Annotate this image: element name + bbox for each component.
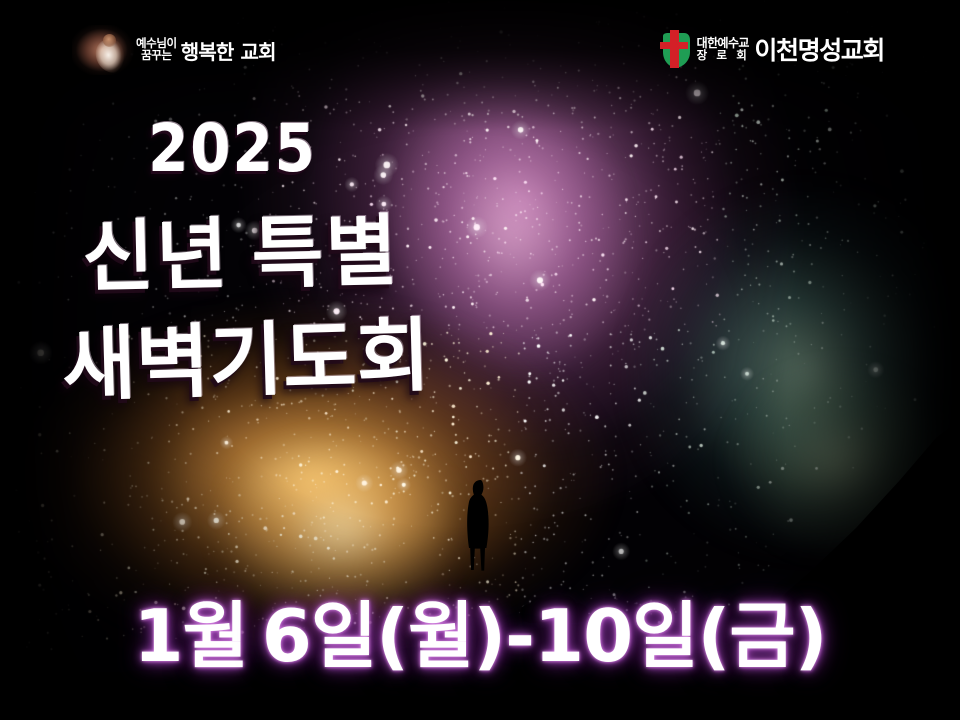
jesus-figure-icon: [72, 25, 134, 75]
left-logo-line-2: 꿈꾸는: [141, 50, 172, 62]
night-sky-background: [0, 0, 960, 720]
church-name: 이천명성교회: [754, 31, 884, 67]
right-church-logo[interactable]: 대한예수교 장 로 회 이천명성교회: [658, 22, 884, 76]
denomination-text: 대한예수교 장 로 회: [697, 37, 750, 62]
left-church-logo[interactable]: 예수님이 꿈꾸는 행복한교회: [72, 22, 276, 78]
left-logo-text: 예수님이 꿈꾸는 행복한교회: [136, 36, 276, 65]
poster-canvas: 예수님이 꿈꾸는 행복한교회 대한예수교 장 로 회 이천명성교회 2025 신…: [0, 0, 960, 720]
denomination-line-2: 장 로 회: [697, 49, 750, 61]
left-logo-small-lines: 예수님이 꿈꾸는: [136, 38, 177, 61]
left-logo-word-2: 교회: [241, 40, 276, 64]
cross-emblem-icon: [658, 28, 692, 70]
left-logo-word-1: 행복한: [181, 40, 234, 64]
left-logo-big-text: 행복한교회: [181, 36, 276, 65]
